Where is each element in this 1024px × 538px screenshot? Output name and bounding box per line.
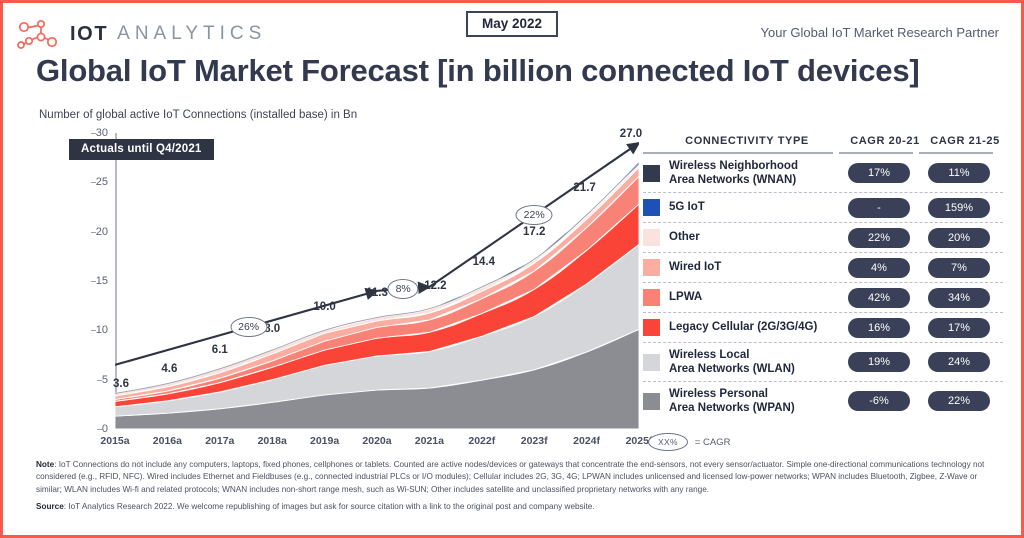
y-tick-mark: [91, 281, 96, 282]
source-text: : IoT Analytics Research 2022. We welcom…: [64, 502, 595, 511]
data-label-2019a: 10.0: [313, 301, 335, 313]
stacked-area-series: [115, 133, 639, 429]
x-axis-labels: 2015a2016a2017a2018a2019a2020a2021a2022f…: [115, 435, 639, 455]
legend-color-swatch: [643, 393, 660, 410]
x-label-2022f: 2022f: [468, 435, 495, 447]
y-tick-10: 10: [96, 324, 115, 336]
legend-color-swatch: [643, 319, 660, 336]
y-tick-20: 20: [96, 226, 115, 238]
source-line: Source: IoT Analytics Research 2022. We …: [36, 501, 996, 513]
x-label-2017a: 2017a: [205, 435, 234, 447]
legend-cagr-20-21-cell: 22%: [839, 228, 919, 248]
cagr-21-25-badge: 11%: [928, 163, 990, 183]
header: IOT ANALYTICS May 2022 Your Global IoT M…: [3, 3, 1021, 53]
x-label-2021a: 2021a: [415, 435, 444, 447]
legend-name-line1: Other: [669, 230, 700, 244]
legend-series-name: Wireless LocalArea Networks (WLAN): [669, 348, 795, 376]
legend-cagr-20-21-cell: 4%: [839, 258, 919, 278]
x-label-2019a: 2019a: [310, 435, 339, 447]
area-chart: 051015202530 3.64.66.18.010.011.312.214.…: [63, 127, 643, 437]
note-line: Note: IoT Connections do not include any…: [36, 459, 996, 496]
legend-row: Wired IoT4%7%: [643, 253, 1003, 283]
legend-type-cell: Legacy Cellular (2G/3G/4G): [643, 319, 839, 336]
legend-type-cell: Wireless LocalArea Networks (WLAN): [643, 348, 839, 376]
y-tick-15: 15: [96, 275, 115, 287]
legend-header-rules: [643, 152, 1003, 154]
y-tick-0: 0: [102, 423, 115, 435]
legend-type-cell: Wired IoT: [643, 259, 839, 276]
legend-name-line1: Wired IoT: [669, 260, 721, 274]
cagr-21-25-badge: 159%: [928, 198, 990, 218]
source-label: Source: [36, 502, 64, 511]
legend-cagr-21-25-cell: 159%: [919, 198, 999, 218]
legend-color-swatch: [643, 165, 660, 182]
legend-rows: Wireless NeighborhoodArea Networks (WNAN…: [643, 154, 1003, 420]
logo-text-iot: IOT: [70, 23, 108, 46]
legend-name-line2: Area Networks (WNAN): [669, 173, 798, 187]
date-badge: May 2022: [466, 11, 558, 37]
y-tick-mark: [91, 330, 96, 331]
x-label-2015a: 2015a: [100, 435, 129, 447]
legend-cagr-21-25-cell: 34%: [919, 288, 999, 308]
legend-series-name: Wireless PersonalArea Networks (WPAN): [669, 387, 795, 415]
legend-table: CONNECTIVITY TYPE CAGR 20-21 CAGR 21-25 …: [643, 121, 1003, 420]
legend-cagr-21-25-cell: 17%: [919, 318, 999, 338]
infographic-frame: IOT ANALYTICS May 2022 Your Global IoT M…: [0, 0, 1024, 538]
legend-row: LPWA42%34%: [643, 283, 1003, 313]
cagr-legend-key: XX% = CAGR: [648, 433, 730, 451]
y-tick-mark: [91, 133, 96, 134]
legend-col-cagr-21-25: CAGR 21-25: [925, 135, 1005, 147]
legend-name-line1: 5G IoT: [669, 200, 705, 214]
legend-series-name: Wireless NeighborhoodArea Networks (WNAN…: [669, 159, 798, 187]
legend-cagr-20-21-cell: 16%: [839, 318, 919, 338]
x-label-2024f: 2024f: [573, 435, 600, 447]
cagr-20-21-badge: 16%: [848, 318, 910, 338]
cagr-arrow-pill-22: 22%: [516, 205, 553, 225]
legend-col-type: CONNECTIVITY TYPE: [643, 135, 845, 147]
y-tick-mark: [97, 380, 102, 381]
legend-name-line2: Area Networks (WPAN): [669, 401, 795, 415]
legend-color-swatch: [643, 229, 660, 246]
data-label-2021a: 12.2: [424, 280, 446, 292]
legend-series-name: LPWA: [669, 290, 702, 304]
cagr-key-text: = CAGR: [695, 437, 731, 448]
legend-color-swatch: [643, 289, 660, 306]
chart-subtitle: Number of global active IoT Connections …: [39, 109, 357, 121]
note-text: : IoT Connections do not include any com…: [36, 460, 984, 494]
data-label-2024f: 21.7: [573, 182, 595, 194]
cagr-arrow-pill-8: 8%: [388, 279, 419, 299]
data-label-2017a: 6.1: [212, 344, 228, 356]
legend-cagr-21-25-cell: 24%: [919, 352, 999, 372]
legend-cagr-20-21-cell: 42%: [839, 288, 919, 308]
x-label-2020a: 2020a: [362, 435, 391, 447]
cagr-20-21-badge: 4%: [848, 258, 910, 278]
cagr-20-21-badge: -6%: [848, 391, 910, 411]
legend-cagr-20-21-cell: -6%: [839, 391, 919, 411]
legend-cagr-20-21-cell: -: [839, 198, 919, 218]
legend-cagr-21-25-cell: 22%: [919, 391, 999, 411]
cagr-21-25-badge: 20%: [928, 228, 990, 248]
rule-cagr-1: [839, 152, 913, 154]
data-label-2015a: 3.6: [113, 378, 129, 390]
legend-series-name: Wired IoT: [669, 260, 721, 274]
legend-row: Wireless NeighborhoodArea Networks (WNAN…: [643, 154, 1003, 193]
y-tick-mark: [97, 429, 102, 430]
rule-cagr-2: [919, 152, 993, 154]
cagr-21-25-badge: 22%: [928, 391, 990, 411]
legend-name-line1: Legacy Cellular (2G/3G/4G): [669, 320, 817, 334]
x-label-2023f: 2023f: [521, 435, 548, 447]
legend-name-line1: LPWA: [669, 290, 702, 304]
legend-color-swatch: [643, 354, 660, 371]
cagr-20-21-badge: 42%: [848, 288, 910, 308]
cagr-21-25-badge: 24%: [928, 352, 990, 372]
legend-type-cell: Wireless PersonalArea Networks (WPAN): [643, 387, 839, 415]
data-label-2025f: 27.0: [620, 128, 642, 140]
x-label-2018a: 2018a: [258, 435, 287, 447]
cagr-arrow-pill-26: 26%: [230, 317, 267, 337]
y-tick-30: 30: [96, 127, 115, 139]
legend-cagr-21-25-cell: 7%: [919, 258, 999, 278]
legend-col-cagr-20-21: CAGR 20-21: [845, 135, 925, 147]
rule-type: [643, 152, 833, 154]
legend-type-cell: Other: [643, 229, 839, 246]
legend-name-line2: Area Networks (WLAN): [669, 362, 795, 376]
legend-row: 5G IoT-159%: [643, 193, 1003, 223]
footnotes: Note: IoT Connections do not include any…: [36, 459, 996, 514]
data-label-2023f: 17.2: [523, 226, 545, 238]
data-label-2020a: 11.3: [366, 287, 388, 299]
legend-cagr-21-25-cell: 11%: [919, 163, 999, 183]
legend-row: Other22%20%: [643, 223, 1003, 253]
legend-series-name: Other: [669, 230, 700, 244]
x-label-2016a: 2016a: [153, 435, 182, 447]
logo: IOT ANALYTICS: [17, 19, 266, 49]
legend-cagr-21-25-cell: 20%: [919, 228, 999, 248]
legend-series-name: 5G IoT: [669, 200, 705, 214]
cagr-20-21-badge: 19%: [848, 352, 910, 372]
legend-name-line1: Wireless Neighborhood: [669, 159, 798, 173]
legend-color-swatch: [643, 259, 660, 276]
legend-type-cell: 5G IoT: [643, 199, 839, 216]
cagr-key-pill: XX%: [648, 433, 688, 451]
legend-row: Wireless PersonalArea Networks (WPAN)-6%…: [643, 382, 1003, 420]
y-tick-mark: [91, 232, 96, 233]
cagr-21-25-badge: 7%: [928, 258, 990, 278]
cagr-20-21-badge: 17%: [848, 163, 910, 183]
data-label-2022f: 14.4: [473, 256, 495, 268]
logo-text-analytics: ANALYTICS: [117, 23, 266, 45]
note-label: Note: [36, 460, 54, 469]
cagr-21-25-badge: 34%: [928, 288, 990, 308]
legend-color-swatch: [643, 199, 660, 216]
y-tick-25: 25: [96, 176, 115, 188]
cagr-20-21-badge: 22%: [848, 228, 910, 248]
cagr-21-25-badge: 17%: [928, 318, 990, 338]
legend-type-cell: LPWA: [643, 289, 839, 306]
legend-series-name: Legacy Cellular (2G/3G/4G): [669, 320, 817, 334]
legend-cagr-20-21-cell: 17%: [839, 163, 919, 183]
legend-row: Wireless LocalArea Networks (WLAN)19%24%: [643, 343, 1003, 382]
iot-network-logo-icon: [17, 19, 61, 49]
legend-type-cell: Wireless NeighborhoodArea Networks (WNAN…: [643, 159, 839, 187]
legend-cagr-20-21-cell: 19%: [839, 352, 919, 372]
cagr-20-21-badge: -: [848, 198, 910, 218]
legend-header-row: CONNECTIVITY TYPE CAGR 20-21 CAGR 21-25: [643, 121, 1003, 147]
legend-name-line1: Wireless Local: [669, 348, 795, 362]
actuals-badge: Actuals until Q4/2021: [69, 139, 214, 160]
y-tick-mark: [91, 182, 96, 183]
plot-area: 051015202530 3.64.66.18.010.011.312.214.…: [115, 133, 639, 429]
tagline: Your Global IoT Market Research Partner: [761, 25, 999, 40]
legend-row: Legacy Cellular (2G/3G/4G)16%17%: [643, 313, 1003, 343]
legend-name-line1: Wireless Personal: [669, 387, 795, 401]
data-label-2016a: 4.6: [161, 363, 177, 375]
page-title: Global IoT Market Forecast [in billion c…: [36, 53, 920, 89]
